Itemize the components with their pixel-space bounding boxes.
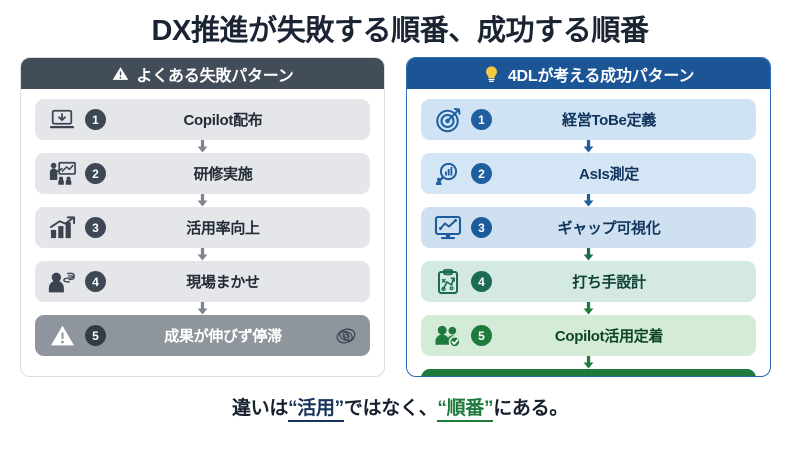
footer-highlight-junban: “順番” bbox=[437, 398, 493, 422]
growth-arrow-icon bbox=[431, 375, 465, 378]
failure-step-1[interactable]: 1 Copilot配布 bbox=[35, 99, 370, 140]
failure-panel-header: よくある失敗パターン bbox=[21, 58, 384, 89]
success-step-2[interactable]: 2 AsIs測定 bbox=[421, 153, 756, 194]
target-dart-icon bbox=[431, 105, 465, 135]
failure-pattern-panel: よくある失敗パターン 1 Copilot配布 bbox=[20, 57, 385, 377]
warning-triangle-icon bbox=[111, 65, 129, 83]
failure-step-2-number: 2 bbox=[85, 163, 106, 184]
success-step-3[interactable]: 3 ギャップ可視化 bbox=[421, 207, 756, 248]
failure-panel-title: よくある失敗パターン bbox=[136, 62, 293, 86]
failure-step-5[interactable]: 5 成果が伸びず停滞 bbox=[35, 315, 370, 356]
success-step-1[interactable]: 1 経営ToBe定義 bbox=[421, 99, 756, 140]
footer-part-2: ではなく、 bbox=[344, 398, 438, 419]
success-step-1-label: 経営ToBe定義 bbox=[492, 109, 756, 130]
success-panel-title: 4DLが考える成功パターン bbox=[508, 62, 694, 86]
arrow-down-icon bbox=[582, 302, 596, 315]
person-confused-icon bbox=[45, 267, 79, 297]
failure-step-2[interactable]: 2 研修実施 bbox=[35, 153, 370, 194]
failure-step-2-label: 研修実施 bbox=[106, 163, 370, 184]
footer-part-3: にある。 bbox=[493, 398, 568, 419]
success-step-3-number: 3 bbox=[471, 217, 492, 238]
failure-step-3-number: 3 bbox=[85, 217, 106, 238]
footer-part-1: 違いは bbox=[232, 398, 288, 419]
footer-highlight-katsuyou: “活用” bbox=[288, 398, 344, 422]
arrow-down-icon bbox=[582, 140, 596, 153]
arrow-down-icon bbox=[196, 302, 210, 315]
scribble-tangle-icon bbox=[334, 324, 358, 348]
training-presentation-icon bbox=[45, 159, 79, 189]
failure-step-3[interactable]: 3 活用率向上 bbox=[35, 207, 370, 248]
success-pattern-panel: 4DLが考える成功パターン 1 経営ToBe定義 bbox=[406, 57, 771, 377]
warning-triangle-icon bbox=[45, 321, 79, 351]
laptop-download-icon bbox=[45, 105, 79, 135]
success-step-4-number: 4 bbox=[471, 271, 492, 292]
arrow-down-icon bbox=[196, 194, 210, 207]
magnifier-chart-icon bbox=[431, 159, 465, 189]
success-step-2-number: 2 bbox=[471, 163, 492, 184]
failure-step-1-number: 1 bbox=[85, 109, 106, 130]
failure-step-4-number: 4 bbox=[85, 271, 106, 292]
success-step-2-label: AsIs測定 bbox=[492, 163, 756, 184]
arrow-down-icon bbox=[582, 248, 596, 261]
success-step-4[interactable]: 4 打ち手設計 bbox=[421, 261, 756, 302]
page-title: DX推進が失敗する順番、成功する順番 bbox=[0, 7, 800, 49]
footer-conclusion: 違いは“活用”ではなく、“順番”にある。 bbox=[0, 393, 800, 420]
people-check-icon bbox=[431, 321, 465, 351]
success-step-5-number: 5 bbox=[471, 325, 492, 346]
failure-step-1-label: Copilot配布 bbox=[106, 109, 370, 130]
failure-step-5-number: 5 bbox=[85, 325, 106, 346]
lightbulb-icon bbox=[483, 65, 501, 83]
bar-chart-up-icon bbox=[45, 213, 79, 243]
success-panel-header: 4DLが考える成功パターン bbox=[407, 58, 770, 89]
arrow-down-icon bbox=[582, 356, 596, 369]
arrow-down-icon bbox=[196, 140, 210, 153]
success-step-4-label: 打ち手設計 bbox=[492, 271, 756, 292]
success-step-1-number: 1 bbox=[471, 109, 492, 130]
arrow-down-icon bbox=[196, 248, 210, 261]
failure-step-5-label: 成果が伸びず停滞 bbox=[106, 325, 370, 346]
success-steps-list: 1 経営ToBe定義 2 AsIs測定 bbox=[407, 89, 770, 377]
monitor-linechart-icon bbox=[431, 213, 465, 243]
failure-step-4-label: 現場まかせ bbox=[106, 271, 370, 292]
arrow-down-icon bbox=[582, 194, 596, 207]
success-step-5[interactable]: 5 Copilot活用定着 bbox=[421, 315, 756, 356]
failure-step-4[interactable]: 4 現場まかせ bbox=[35, 261, 370, 302]
success-step-3-label: ギャップ可視化 bbox=[492, 217, 756, 238]
success-step-6[interactable]: 6 付加価値創造へ bbox=[421, 369, 756, 377]
failure-steps-list: 1 Copilot配布 2 研修実施 bbox=[21, 89, 384, 356]
clipboard-strategy-icon bbox=[431, 267, 465, 297]
failure-step-3-label: 活用率向上 bbox=[106, 217, 370, 238]
success-step-5-label: Copilot活用定着 bbox=[492, 325, 756, 346]
